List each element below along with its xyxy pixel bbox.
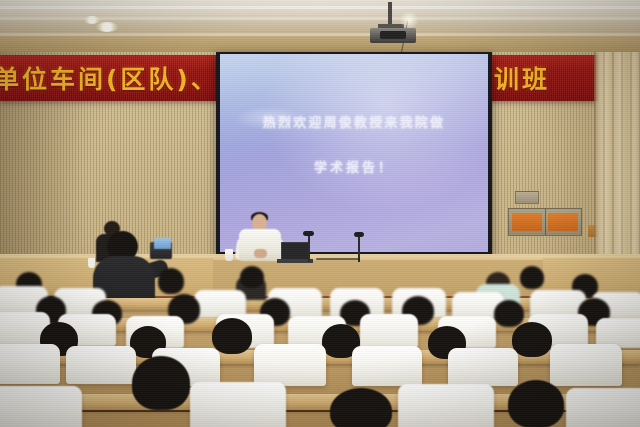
seat-cover xyxy=(398,384,494,427)
paper-cup xyxy=(225,249,233,261)
wall-sign-panel xyxy=(508,208,582,236)
attendee-head xyxy=(330,388,392,427)
microphone-stand xyxy=(308,235,310,262)
attendee-head xyxy=(212,318,252,354)
ceiling-beam xyxy=(0,6,640,9)
camera-screen xyxy=(154,238,171,249)
presenter-hands xyxy=(254,249,267,258)
sign-cell xyxy=(512,213,542,231)
screen-text-line-2: 学术报告！ xyxy=(220,157,488,176)
screen-text-line-1: 热烈欢迎周俊教授来我院做 xyxy=(220,112,488,131)
projector-glow xyxy=(398,12,420,28)
sign-cell xyxy=(548,213,578,231)
paper-cup xyxy=(88,258,95,268)
ceiling-light xyxy=(96,22,118,32)
seat-cover xyxy=(448,348,518,386)
seat-cover xyxy=(352,346,422,386)
sign-divider xyxy=(545,209,546,235)
projector-lens xyxy=(380,31,406,39)
attendee-head xyxy=(132,356,190,410)
microphone xyxy=(303,231,314,236)
attendee-head xyxy=(508,380,564,427)
seat-cover xyxy=(190,382,286,427)
laptop xyxy=(281,242,309,260)
seat-cover xyxy=(550,344,622,386)
seat-cover xyxy=(566,388,640,427)
wall-sign-small xyxy=(515,191,539,204)
microphone xyxy=(354,232,364,237)
attendee-head xyxy=(520,266,544,289)
cable xyxy=(316,258,360,260)
seat-cover xyxy=(254,344,326,386)
seat-cover xyxy=(0,386,82,427)
seat-cover xyxy=(0,344,60,384)
seat-cover xyxy=(66,346,136,384)
seat-cover xyxy=(360,314,418,348)
ceiling-projector xyxy=(370,28,416,43)
lecture-hall-photo: 单位车间(区队)、部分业 训班 热烈欢迎周俊教授来我院做 学术报告！ xyxy=(0,0,640,427)
screen-glare xyxy=(220,54,488,145)
attendee-head xyxy=(494,300,524,327)
attendee-head xyxy=(158,268,184,294)
attendee-head xyxy=(512,322,552,357)
banner-text-right: 训班 xyxy=(494,58,550,98)
attendee-head xyxy=(240,266,264,288)
